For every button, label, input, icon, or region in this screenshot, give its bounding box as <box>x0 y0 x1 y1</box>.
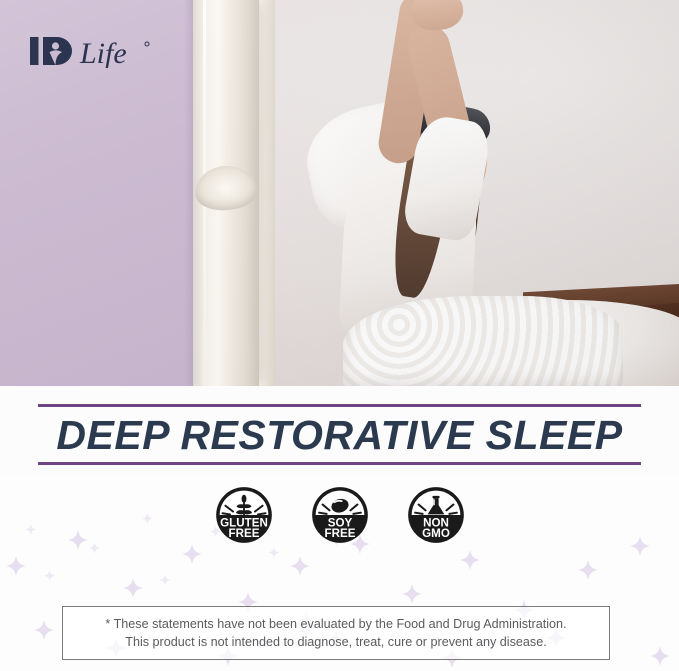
badge-soy-free: SOY FREE <box>311 486 369 544</box>
certification-badges: GLUTEN FREE SOY <box>0 486 679 560</box>
disclaimer-line-2: This product is not intended to diagnose… <box>125 633 546 651</box>
disclaimer-line-1: * These statements have not been evaluat… <box>105 615 566 633</box>
product-marketing-graphic: Life <box>0 0 679 671</box>
badge-non-gmo: NON GMO <box>407 486 465 544</box>
svg-text:FREE: FREE <box>228 527 259 540</box>
photo-overlay <box>193 0 679 386</box>
svg-text:Life: Life <box>79 37 127 68</box>
title-block: DEEP RESTORATIVE SLEEP <box>0 386 679 474</box>
badge-gluten-free: GLUTEN FREE <box>215 486 273 544</box>
idlife-logo: Life <box>30 34 156 68</box>
hero-section: Life <box>0 0 679 386</box>
fda-disclaimer: * These statements have not been evaluat… <box>62 606 610 660</box>
svg-text:FREE: FREE <box>324 527 355 540</box>
svg-text:GMO: GMO <box>422 527 450 540</box>
title-rule-bottom <box>38 462 641 465</box>
page-title: DEEP RESTORATIVE SLEEP <box>38 410 641 460</box>
lifestyle-photo <box>193 0 679 386</box>
title-rule-top <box>38 404 641 407</box>
